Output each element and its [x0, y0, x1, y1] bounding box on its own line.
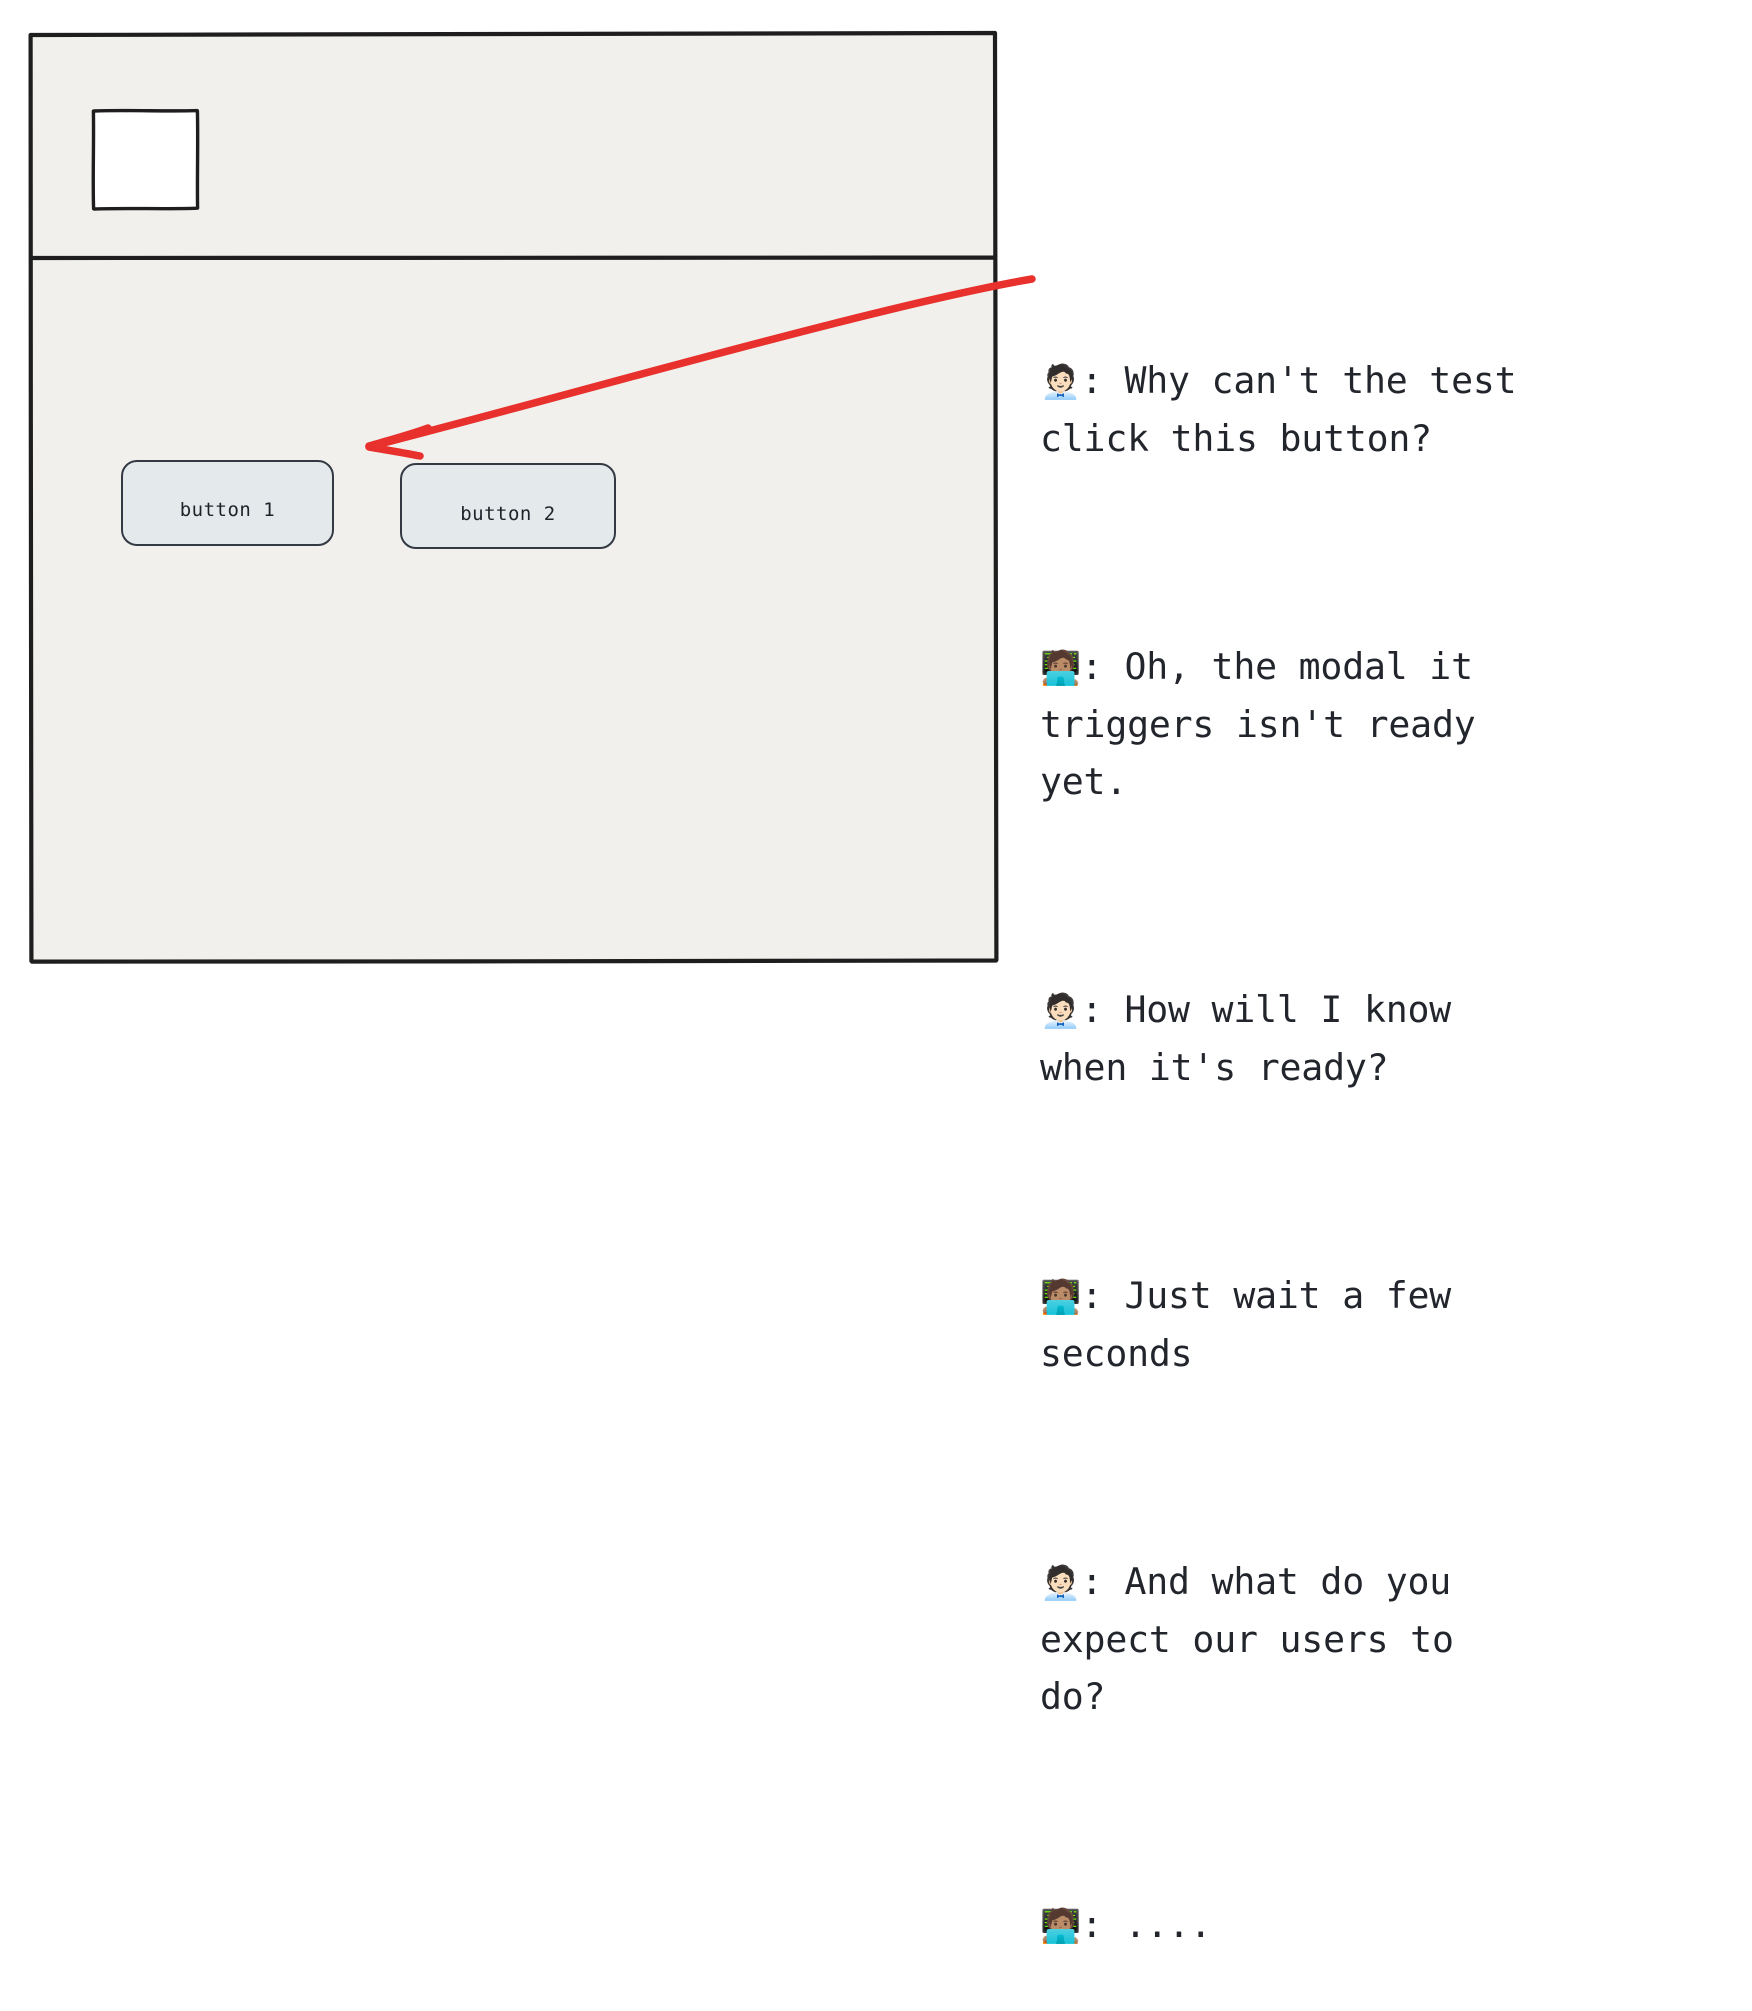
logo-placeholder-fill	[94, 111, 197, 208]
chat-line: 🧑🏻‍💼: And what do you expect our users t…	[1040, 1553, 1540, 1725]
chat-line: 🧑🏻‍💼: How will I know when it's ready?	[1040, 981, 1540, 1096]
chat-line-text: : Why can't the test click this button?	[1040, 359, 1538, 460]
header-divider	[31, 258, 995, 259]
chat-line: 🧑🏽‍💻: ....	[1040, 1896, 1540, 1954]
speaker-developer-icon: 🧑🏽‍💻	[1040, 1277, 1081, 1316]
chat-line-text: : ....	[1081, 1903, 1212, 1946]
chat-line-text: : Oh, the modal it triggers isn't ready …	[1040, 645, 1497, 803]
chat-line-text: : How will I know when it's ready?	[1040, 988, 1473, 1089]
conversation-transcript: 🧑🏻‍💼: Why can't the test click this butt…	[1040, 238, 1540, 2011]
speaker-manager-icon: 🧑🏻‍💼	[1040, 362, 1081, 401]
speaker-manager-icon: 🧑🏻‍💼	[1040, 991, 1081, 1030]
speaker-developer-icon: 🧑🏽‍💻	[1040, 648, 1081, 687]
chat-line: 🧑🏽‍💻: Oh, the modal it triggers isn't re…	[1040, 638, 1540, 810]
mock-button-2-label: button 2	[460, 503, 556, 525]
speaker-manager-icon: 🧑🏻‍💼	[1040, 1563, 1081, 1602]
speaker-developer-icon: 🧑🏽‍💻	[1040, 1906, 1081, 1945]
app-mockup: button 1 button 2	[28, 31, 998, 963]
chat-line-text: : Just wait a few seconds	[1040, 1274, 1473, 1375]
mock-button-1-label: button 1	[180, 499, 276, 521]
chat-line-text: : And what do you expect our users to do…	[1040, 1560, 1476, 1718]
mock-button-1[interactable]: button 1	[121, 460, 334, 546]
chat-line: 🧑🏻‍💼: Why can't the test click this butt…	[1040, 352, 1540, 467]
chat-line: 🧑🏽‍💻: Just wait a few seconds	[1040, 1267, 1540, 1382]
mock-button-2[interactable]: button 2	[400, 463, 616, 549]
